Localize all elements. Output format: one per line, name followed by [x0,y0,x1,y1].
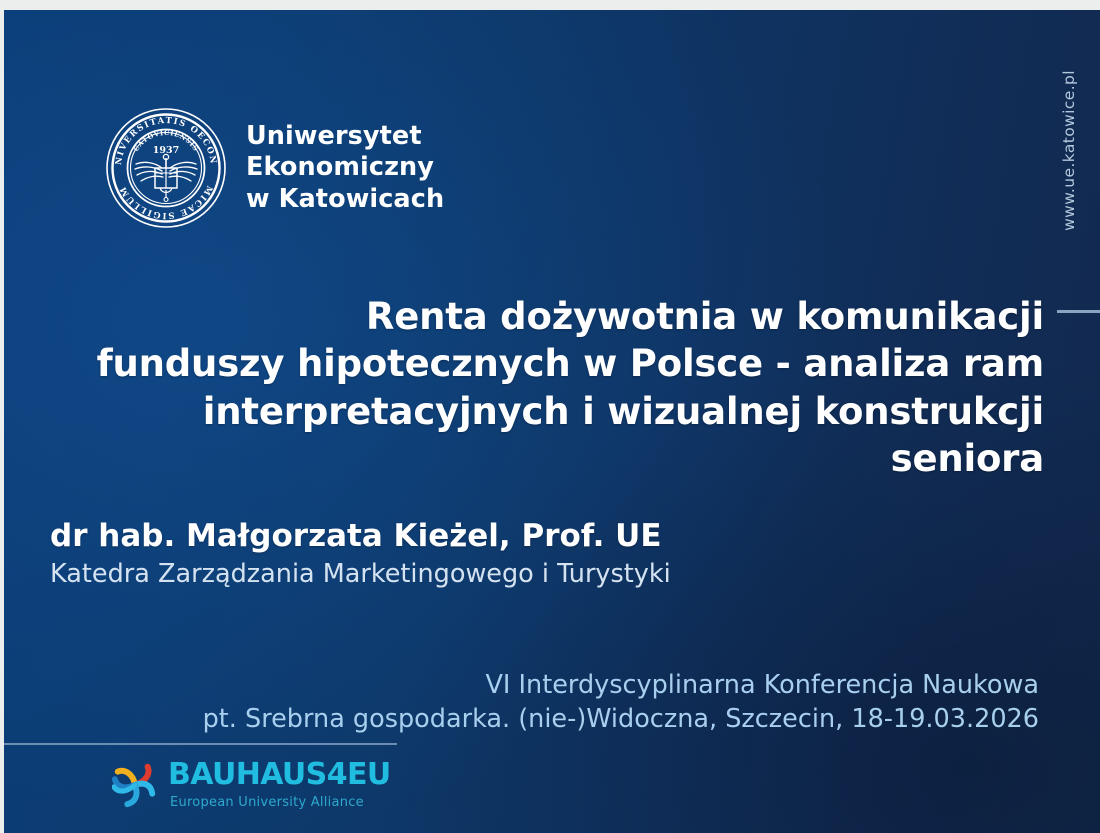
conference-line2: pt. Srebrna gospodarka. (nie-)Widoczna, … [64,703,1039,737]
author-department: Katedra Zarządzania Marketingowego i Tur… [50,559,671,590]
author-name: dr hab. Małgorzata Kieżel, Prof. UE [50,518,671,555]
pinwheel-swirl-icon [112,762,158,808]
university-seal-icon: UNIVERSITATIS OECONO MICAE SIGILLUM CATO… [104,106,228,230]
slide-title: Renta dożywotnia w komunikacji funduszy … [64,293,1044,482]
slide-title-line3: interpretacyjnych i wizualnej konstrukcj… [64,388,1044,435]
bauhaus4eu-text: BAUHAUS4EU European University Alliance [168,760,391,809]
slide-title-line1: Renta dożywotnia w komunikacji [64,293,1044,340]
university-wordmark: Uniwersytet Ekonomiczny w Katowicach [246,121,444,214]
university-website-url: www.ue.katowice.pl [1060,70,1078,231]
decorative-rule-right [1057,310,1100,313]
bauhaus4eu-logo: BAUHAUS4EU European University Alliance [112,760,391,809]
university-wordmark-line1: Uniwersytet [246,121,444,152]
presentation-slide: UNIVERSITATIS OECONO MICAE SIGILLUM CATO… [4,10,1100,833]
university-wordmark-line2: Ekonomiczny [246,152,444,183]
bauhaus4eu-tagline: European University Alliance [170,796,391,809]
conference-line1: VI Interdyscyplinarna Konferencja Naukow… [64,669,1039,703]
bauhaus4eu-name: BAUHAUS4EU [168,760,391,790]
university-wordmark-line3: w Katowicach [246,184,444,215]
university-logo: UNIVERSITATIS OECONO MICAE SIGILLUM CATO… [104,106,444,230]
conference-info: VI Interdyscyplinarna Konferencja Naukow… [64,669,1039,736]
author-block: dr hab. Małgorzata Kieżel, Prof. UE Kate… [50,518,671,589]
slide-title-line4: seniora [64,435,1044,482]
decorative-rule-bottom-left [4,743,397,745]
slide-title-line2: funduszy hipotecznych w Polsce - analiza… [64,340,1044,387]
